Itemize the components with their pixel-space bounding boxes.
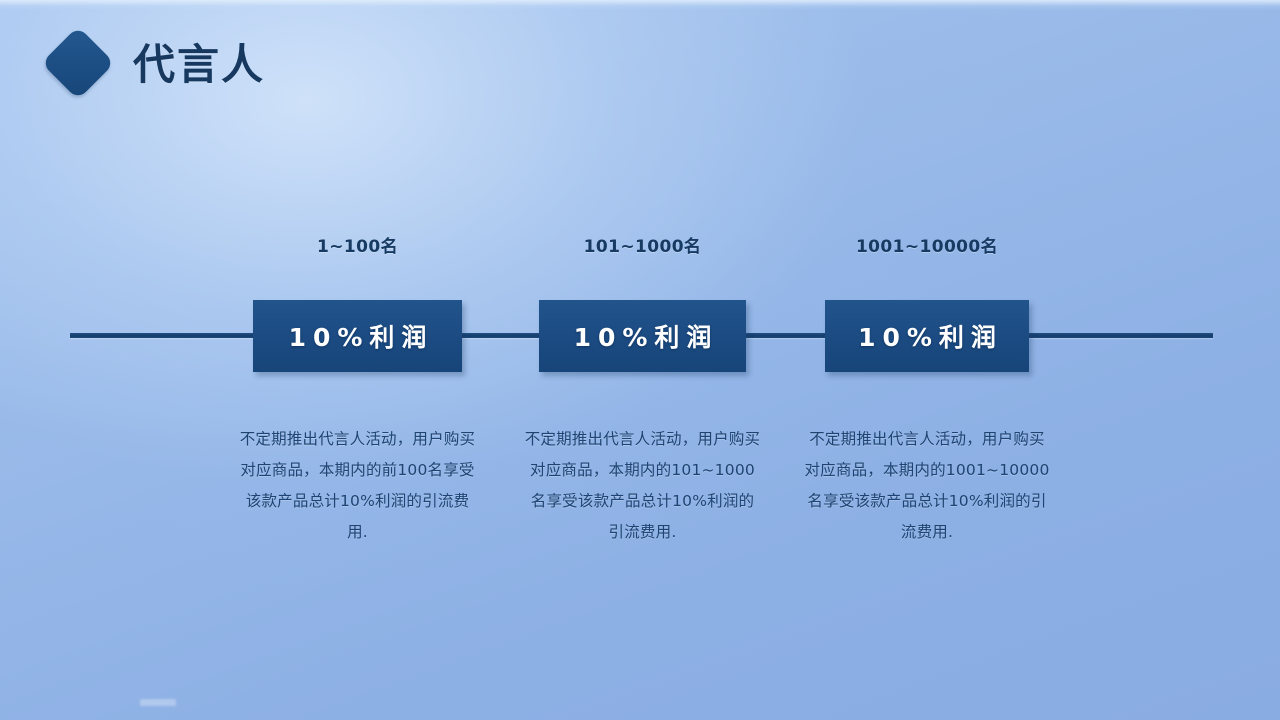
stage-description-3: 不定期推出代言人活动，用户购买对应商品，本期内的1001~10000名享受该款产… <box>803 424 1051 548</box>
timeline-stages: 1~100名 10%利润 不定期推出代言人活动，用户购买对应商品，本期内的前10… <box>0 0 1280 720</box>
stage-box-3[interactable]: 10%利润 <box>825 300 1029 372</box>
stage-label-1: 1~100名 <box>253 232 462 257</box>
stage-box-text-3: 10%利润 <box>851 318 1003 354</box>
stage-description-2: 不定期推出代言人活动，用户购买对应商品，本期内的101~1000名享受该款产品总… <box>523 424 762 548</box>
stage-box-1[interactable]: 10%利润 <box>253 300 462 372</box>
watermark <box>140 699 176 706</box>
stage-label-3: 1001~10000名 <box>825 232 1029 257</box>
stage-description-1: 不定期推出代言人活动，用户购买对应商品，本期内的前100名享受该款产品总计10%… <box>237 424 478 548</box>
stage-box-text-2: 10%利润 <box>567 318 719 354</box>
stage-box-text-1: 10%利润 <box>282 318 434 354</box>
stage-label-2: 101~1000名 <box>539 232 746 257</box>
stage-box-2[interactable]: 10%利润 <box>539 300 746 372</box>
slide-canvas: 代言人 1~100名 10%利润 不定期推出代言人活动，用户购买对应商品，本期内… <box>0 0 1280 720</box>
